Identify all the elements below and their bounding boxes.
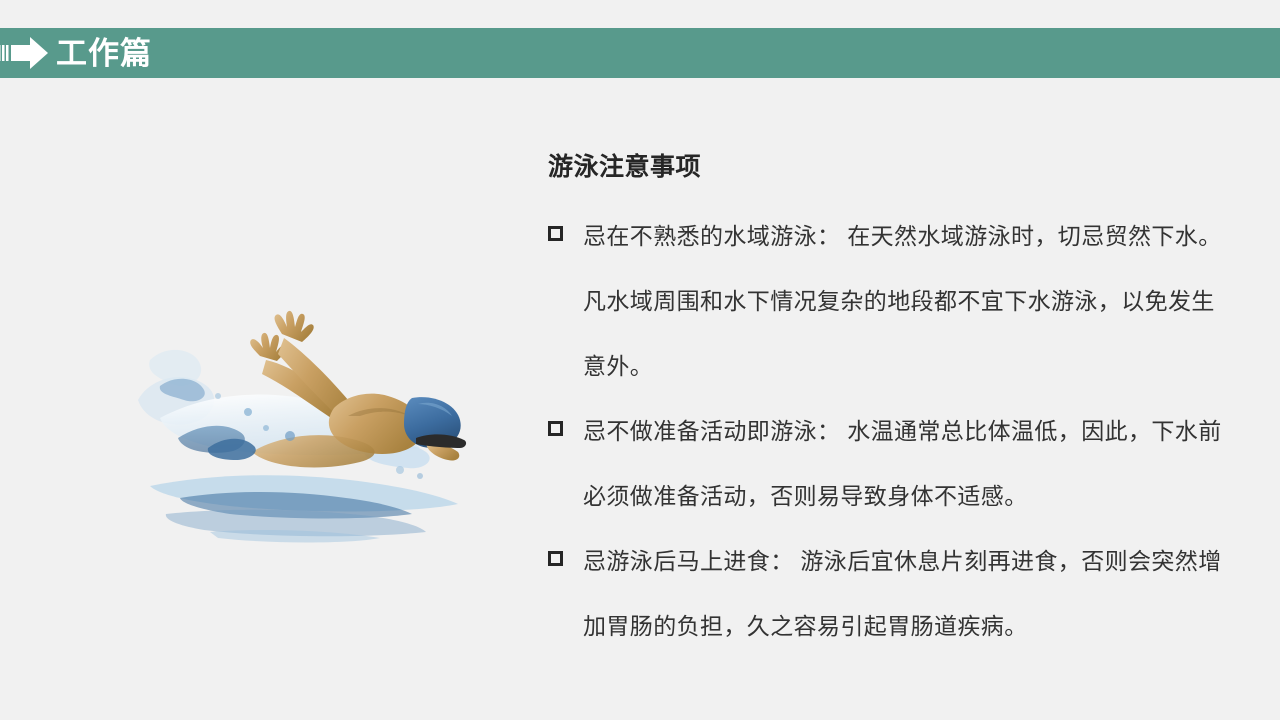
swimmer-illustration (120, 300, 490, 560)
list-item-text: 忌游泳后马上进食： 游泳后宜休息片刻再进食，否则会突然增加胃肠的负担，久之容易引… (583, 529, 1238, 659)
list-item: 忌不做准备活动即游泳： 水温通常总比体温低，因此，下水前必须做准备活动，否则易导… (548, 399, 1238, 529)
header-band: 工作篇 (0, 28, 1280, 78)
swimmer-watercolor-graphic (120, 300, 490, 560)
arrow-right-icon (0, 36, 50, 70)
list-item-text: 忌不做准备活动即游泳： 水温通常总比体温低，因此，下水前必须做准备活动，否则易导… (583, 399, 1238, 529)
content-column: 游泳注意事项 忌在不熟悉的水域游泳： 在天然水域游泳时，切忌贸然下水。凡水域周围… (548, 152, 1238, 659)
header-title: 工作篇 (56, 38, 152, 69)
square-bullet-icon (548, 226, 563, 241)
water-surface-shape (150, 475, 458, 542)
square-bullet-icon (548, 551, 563, 566)
list-item: 忌游泳后马上进食： 游泳后宜休息片刻再进食，否则会突然增加胃肠的负担，久之容易引… (548, 529, 1238, 659)
list-item-text: 忌在不熟悉的水域游泳： 在天然水域游泳时，切忌贸然下水。凡水域周围和水下情况复杂… (583, 204, 1238, 399)
swimmer-figure-shape (208, 311, 466, 468)
list-item: 忌在不熟悉的水域游泳： 在天然水域游泳时，切忌贸然下水。凡水域周围和水下情况复杂… (548, 204, 1238, 399)
notes-bullet-list: 忌在不熟悉的水域游泳： 在天然水域游泳时，切忌贸然下水。凡水域周围和水下情况复杂… (548, 204, 1238, 659)
square-bullet-icon (548, 421, 563, 436)
right-hand-shape (275, 311, 314, 342)
content-title: 游泳注意事项 (548, 152, 1238, 182)
